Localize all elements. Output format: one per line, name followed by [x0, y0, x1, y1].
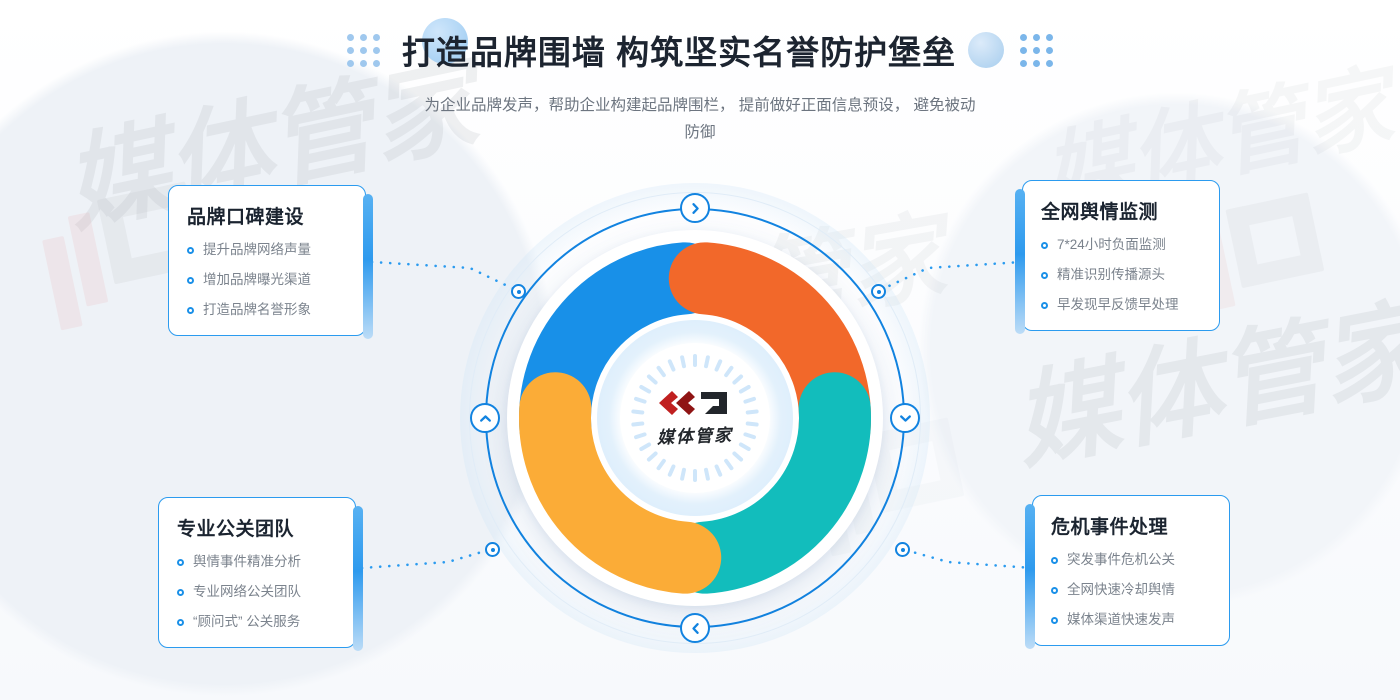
bullet-icon	[177, 589, 184, 596]
list-item: 全网快速冷却舆情	[1051, 581, 1215, 599]
list-item-label: 增加品牌曝光渠道	[203, 271, 311, 289]
card-title: 全网舆情监测	[1041, 197, 1205, 224]
page-header: 打造品牌围墙 构筑坚实名誉防护堡垒 为企业品牌发声，帮助企业构建起品牌围栏， 提…	[0, 0, 1400, 146]
bullet-icon	[1041, 242, 1048, 249]
bullet-icon	[1051, 587, 1058, 594]
list-item-label: 媒体渠道快速发声	[1067, 611, 1175, 629]
title-accent-circle	[968, 32, 1004, 68]
list-item-label: 舆情事件精准分析	[193, 553, 301, 571]
card-public[interactable]: 专业公关团队 舆情事件精准分析 专业网络公关团队 “顾问式” 公关服务	[158, 497, 356, 648]
card-list: 7*24小时负面监测 精准识别传播源头 早发现早反馈早处理	[1041, 236, 1205, 314]
bullet-icon	[1051, 557, 1058, 564]
dot-grid-icon	[347, 34, 380, 67]
list-item-label: 7*24小时负面监测	[1057, 236, 1166, 254]
card-title: 危机事件处理	[1051, 512, 1215, 539]
chevron-brand-mark-icon	[656, 390, 734, 416]
connector-node-crisis[interactable]	[895, 542, 910, 557]
bullet-icon	[1041, 302, 1048, 309]
infographic-canvas: 媒体管家 媒体管家 媒体管家 媒体管家 打造品牌围墙	[0, 0, 1400, 700]
list-item: 精准识别传播源头	[1041, 266, 1205, 284]
list-item: “顾问式” 公关服务	[177, 613, 341, 631]
bullet-icon	[187, 277, 194, 284]
page-title-wrap: 打造品牌围墙 构筑坚实名誉防护堡垒	[396, 26, 962, 74]
dot-grid-icon	[1020, 34, 1053, 67]
donut-center: 媒体管家	[597, 320, 793, 516]
list-item: 早发现早反馈早处理	[1041, 296, 1205, 314]
page-title: 打造品牌围墙 构筑坚实名誉防护堡垒	[402, 34, 956, 71]
bullet-icon	[1051, 617, 1058, 624]
tick-ring-icon	[620, 343, 770, 493]
bullet-icon	[177, 559, 184, 566]
donut-chart: 媒体管家	[455, 178, 935, 678]
chevron-right-icon[interactable]	[680, 193, 710, 223]
card-title: 品牌口碑建设	[187, 202, 351, 229]
list-item: 7*24小时负面监测	[1041, 236, 1205, 254]
list-item: 媒体渠道快速发声	[1051, 611, 1215, 629]
chevron-left-icon[interactable]	[680, 613, 710, 643]
list-item: 提升品牌网络声量	[187, 241, 351, 259]
bullet-icon	[187, 247, 194, 254]
card-monitor[interactable]: 全网舆情监测 7*24小时负面监测 精准识别传播源头 早发现早反馈早处理	[1022, 180, 1220, 331]
list-item-label: 精准识别传播源头	[1057, 266, 1165, 284]
list-item: 增加品牌曝光渠道	[187, 271, 351, 289]
list-item-label: 全网快速冷却舆情	[1067, 581, 1175, 599]
center-logo-plate: 媒体管家	[620, 343, 770, 493]
bullet-icon	[187, 307, 194, 314]
list-item-label: 突发事件危机公关	[1067, 551, 1175, 569]
connector-node-brand[interactable]	[511, 284, 526, 299]
card-title: 专业公关团队	[177, 514, 341, 541]
title-row: 打造品牌围墙 构筑坚实名誉防护堡垒	[347, 26, 1053, 74]
connector-node-public[interactable]	[485, 542, 500, 557]
card-list: 突发事件危机公关 全网快速冷却舆情 媒体渠道快速发声	[1051, 551, 1215, 629]
list-item-label: “顾问式” 公关服务	[193, 613, 300, 631]
list-item-label: 早发现早反馈早处理	[1057, 296, 1179, 314]
card-list: 提升品牌网络声量 增加品牌曝光渠道 打造品牌名誉形象	[187, 241, 351, 319]
chevron-down-icon[interactable]	[890, 403, 920, 433]
chevron-up-icon[interactable]	[470, 403, 500, 433]
center-brand-name: 媒体管家	[657, 420, 734, 448]
page-subtitle: 为企业品牌发声，帮助企业构建起品牌围栏， 提前做好正面信息预设， 避免被动防御	[420, 92, 980, 146]
list-item-label: 打造品牌名誉形象	[203, 301, 311, 319]
bullet-icon	[177, 619, 184, 626]
card-list: 舆情事件精准分析 专业网络公关团队 “顾问式” 公关服务	[177, 553, 341, 631]
list-item: 专业网络公关团队	[177, 583, 341, 601]
list-item: 舆情事件精准分析	[177, 553, 341, 571]
list-item: 打造品牌名誉形象	[187, 301, 351, 319]
card-brand[interactable]: 品牌口碑建设 提升品牌网络声量 增加品牌曝光渠道 打造品牌名誉形象	[168, 185, 366, 336]
list-item-label: 提升品牌网络声量	[203, 241, 311, 259]
list-item-label: 专业网络公关团队	[193, 583, 301, 601]
connector-node-monitor[interactable]	[871, 284, 886, 299]
card-crisis[interactable]: 危机事件处理 突发事件危机公关 全网快速冷却舆情 媒体渠道快速发声	[1032, 495, 1230, 646]
list-item: 突发事件危机公关	[1051, 551, 1215, 569]
bullet-icon	[1041, 272, 1048, 279]
